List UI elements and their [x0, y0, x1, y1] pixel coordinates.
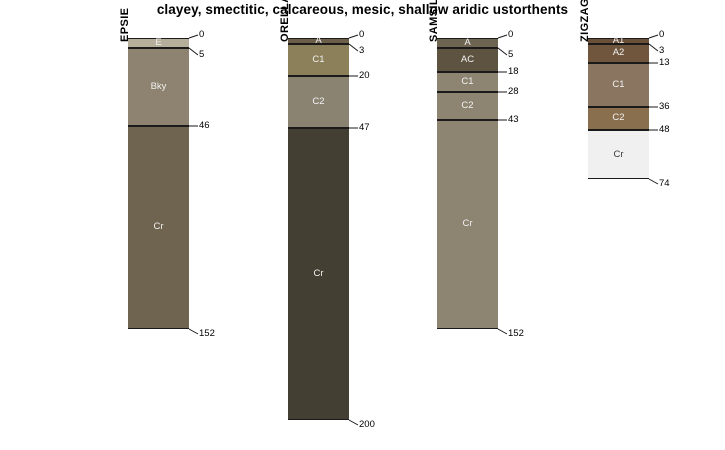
horizon-label: C2: [437, 101, 498, 111]
depth-tick-label: 20: [359, 71, 370, 81]
horizon-label: Cr: [128, 222, 189, 232]
horizon-label: A: [437, 38, 498, 48]
horizon-label: C1: [437, 77, 498, 87]
depth-tick-label: 13: [659, 58, 670, 68]
page-title: clayey, smectitic, calcareous, mesic, sh…: [0, 2, 725, 17]
horizon-label: C2: [288, 97, 349, 107]
depth-tick-label: 0: [199, 30, 204, 40]
depth-tick-label: 28: [508, 87, 519, 97]
depth-tick-label: 5: [508, 50, 513, 60]
depth-tick-label: 3: [359, 46, 364, 56]
depth-tick-label: 18: [508, 67, 519, 77]
depth-tick-label: 43: [508, 115, 519, 125]
depth-tick-label: 36: [659, 102, 670, 112]
profile-name-label: SAMSIL: [428, 0, 440, 42]
depth-tick-label: 152: [199, 329, 215, 339]
soil-profile-plot: clayey, smectitic, calcareous, mesic, sh…: [0, 0, 725, 450]
horizon-label: Cr: [588, 150, 649, 160]
depth-tick-label: 200: [359, 420, 375, 430]
depth-tick-label: 0: [508, 30, 513, 40]
horizon-label: AC: [437, 55, 498, 65]
horizon-label: Cr: [288, 269, 349, 279]
horizon-label: C1: [288, 55, 349, 65]
horizon-label: C2: [588, 113, 649, 123]
horizon-label: Bky: [128, 82, 189, 92]
depth-tick-label: 152: [508, 329, 524, 339]
depth-tick-label: 74: [659, 179, 670, 189]
horizon-label: E: [128, 38, 189, 48]
depth-tick-label: 47: [359, 123, 370, 133]
horizon-label: A2: [588, 48, 649, 58]
depth-tick-label: 48: [659, 125, 670, 135]
horizon-label: Cr: [437, 219, 498, 229]
depth-tick-label: 5: [199, 50, 204, 60]
horizon-label: C1: [588, 80, 649, 90]
depth-tick-label: 46: [199, 121, 210, 131]
